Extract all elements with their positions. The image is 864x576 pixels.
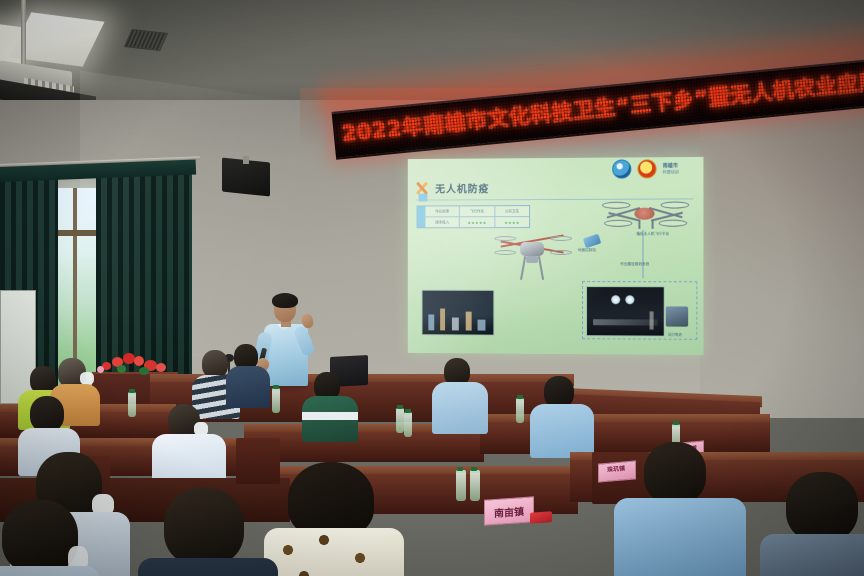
bottle-cap (517, 395, 523, 399)
drone-light-icon (611, 295, 620, 304)
person-floral-blouse (264, 528, 404, 576)
photo-detail (478, 320, 486, 331)
table-row: 作业效率 飞行作业 公共卫生 (425, 206, 529, 217)
foliage (117, 365, 126, 373)
photo-detail (650, 311, 654, 329)
logo-blue-globe-icon (612, 159, 631, 178)
drone-body (634, 208, 654, 220)
placard-nanmu-town-text: 南亩镇 (494, 502, 524, 519)
slide-photo-drone-closeup (586, 286, 665, 337)
water-bottle (456, 470, 466, 501)
drone-photo-illustration (492, 224, 572, 286)
logo-yellow-red-icon (637, 159, 656, 178)
drone-rotor (604, 220, 632, 227)
conference-room-photo: 2022年南雄市文化科技卫生“三下乡”暨无人机农业应用科普培训活动 南雄市 科普… (0, 0, 864, 576)
logo-wordmark: 南雄市 科普培训 (663, 163, 700, 175)
drone-rotor (661, 201, 689, 208)
presenter-hair (272, 293, 298, 308)
desk-row-2-right-panel (480, 422, 770, 454)
drone-body (520, 242, 544, 256)
window-mullion-horizontal (57, 230, 99, 236)
slide-table-side-tab (418, 206, 426, 227)
water-bottle (396, 408, 404, 433)
person-shirt-blue (614, 498, 746, 576)
photo-detail (466, 312, 472, 331)
person-hair (2, 500, 78, 574)
flower (156, 363, 166, 372)
bottle-cap (129, 389, 135, 393)
drone-diagram-icon (602, 195, 689, 230)
person-hair (644, 442, 706, 504)
logo-wordmark-line2: 科普培训 (663, 169, 679, 174)
foliage (139, 367, 149, 375)
diagram-label-path: 作业路径规划系统 (620, 262, 649, 267)
diagram-label-ground-station: 地面控制站 (578, 248, 596, 253)
bottle-cap (273, 385, 279, 389)
slide-title: 无人机防疫 (435, 180, 489, 195)
person-head (202, 350, 228, 378)
person-shirt (226, 366, 270, 408)
water-bottle (128, 392, 136, 417)
bottle-cap (397, 405, 403, 409)
flower (134, 356, 144, 366)
drone-rotor (659, 220, 687, 227)
bottle-cap (471, 467, 477, 471)
flower (97, 366, 104, 373)
projector-mount-pole (21, 0, 26, 72)
person-long-hair (288, 462, 374, 538)
water-bottle (404, 412, 412, 437)
scissors-icon (416, 182, 429, 195)
equipment-icon-battery (666, 306, 688, 326)
drone-camera-gimbal (526, 256, 538, 263)
diagram-connector (642, 230, 643, 278)
table-cell-colhead: 飞行作业 (460, 206, 495, 216)
drone-light-icon (625, 295, 634, 304)
chair-back (236, 438, 280, 484)
projection-screen: 南雄市 科普培训 无人机防疫 作业效率 飞行作业 公共卫生 成本投入 ★★★★★ (408, 157, 704, 355)
drone-rotor (494, 236, 516, 241)
water-bottle (516, 398, 524, 423)
drone-leg (652, 220, 654, 229)
placard-nanmu-town: 南亩镇 (484, 496, 534, 525)
table-cell-rowhead: 成本投入 (425, 217, 460, 227)
slide-photo-night-field (422, 290, 495, 336)
bottle-cap (405, 409, 411, 413)
table-cell-rowhead: 作业效率 (425, 206, 460, 216)
bottle-cap (673, 421, 679, 425)
slide-logo-row: 南雄市 科普培训 (612, 159, 699, 179)
person-hair (30, 396, 64, 432)
person-hair (164, 488, 244, 566)
water-bottle (470, 470, 480, 501)
bottle-cap (457, 467, 463, 471)
person-shirt-blue (530, 404, 594, 458)
photo-detail (440, 309, 445, 331)
shirt-stripe (302, 412, 358, 420)
diagram-label-platform: 植保无人机飞行平台 (636, 232, 669, 237)
water-bottle (272, 388, 280, 413)
drone-rotor (602, 202, 630, 209)
table-cell-colhead: 公共卫生 (495, 206, 529, 216)
table-cell-rating: ★★★★★ (460, 217, 495, 227)
person-shirt (760, 534, 864, 576)
person-hair (786, 472, 858, 542)
photo-detail (452, 318, 459, 331)
photo-detail (428, 314, 434, 330)
person-shirt (0, 566, 100, 576)
photo-detail (593, 319, 658, 325)
ceiling-vent-icon (124, 29, 168, 51)
drone-rotor (550, 236, 572, 241)
drone-rotor (494, 250, 516, 255)
wall-speaker-bracket (243, 156, 249, 164)
person-shirt-lightblue (432, 382, 488, 434)
smartphone (530, 511, 552, 524)
drone-rotor (550, 250, 572, 255)
slide-title-row: 无人机防疫 (416, 180, 490, 195)
drone-leg (638, 220, 640, 229)
person-shirt-dark (138, 558, 278, 576)
drone-leg (538, 256, 544, 280)
desk-row-2-center-panel (244, 432, 484, 462)
flower-arrangement (96, 352, 176, 376)
ground-station-tablet-icon (583, 234, 601, 249)
